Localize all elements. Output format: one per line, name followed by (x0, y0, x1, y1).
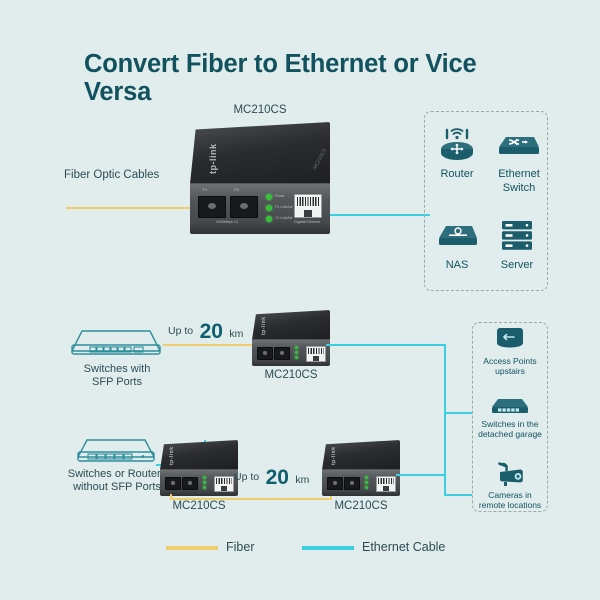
distance-value-bottom: 20 (266, 466, 289, 489)
led-fx-link (365, 481, 368, 484)
fiber-port-rx (182, 477, 198, 490)
ethernet-branch-cameras (444, 494, 472, 496)
fiber-cable-middle (163, 344, 259, 346)
camera-label-line2: remote locations (472, 500, 548, 511)
fiber-port-tx (327, 477, 343, 490)
device-front-panel (252, 340, 330, 366)
hero-device-model: MC210CS (185, 104, 335, 116)
ethernet-cable-bottom-right (396, 474, 446, 476)
fiber-port-rx (344, 477, 360, 490)
switch-icon (490, 396, 530, 416)
rj45-contacts (378, 478, 393, 483)
nas-icon (436, 222, 480, 250)
distance-label-middle: Up to 20 km (168, 320, 260, 344)
ethernet-port (376, 476, 396, 492)
fiber-cable-hero (66, 207, 202, 209)
ethernet-cable-middle (326, 344, 446, 346)
router-icon (434, 128, 480, 162)
led-fx-link (295, 351, 298, 354)
diagram-canvas: Convert Fiber to Ethernet or Vice Versa … (0, 0, 600, 600)
rj45-tab (383, 486, 389, 491)
fiber-port-rx (230, 196, 258, 218)
fiber-port-rx (274, 347, 290, 360)
ethernet-port (214, 476, 234, 492)
legend-label-fiber: Fiber (226, 540, 254, 554)
ethernet-port (306, 346, 326, 362)
media-converter-middle: tp-link (252, 310, 330, 366)
rj45-tab (313, 356, 319, 361)
tplink-logo: tp-link (208, 144, 218, 175)
server-icon (500, 220, 534, 252)
legend-swatch-ethernet (302, 546, 354, 550)
distance-label-bottom: Up to 20 km (234, 466, 326, 490)
switch-without-sfp-outline-icon (74, 435, 158, 465)
distance-unit-middle: km (229, 328, 243, 340)
fiber-cable-bottom (170, 498, 332, 500)
led-power (295, 346, 298, 349)
fiber-port-caption: 1000Mbps LX (194, 220, 260, 224)
fiber-tx-label: TX (202, 187, 207, 192)
distance-value-middle: 20 (200, 320, 223, 343)
switches-with-sfp-label-line2: SFP Ports (62, 375, 172, 389)
distance-unit-bottom: km (295, 474, 309, 486)
rj45-tab (304, 210, 313, 217)
bottom-left-device-model: MC210CS (154, 500, 244, 512)
rj45-contacts (216, 478, 231, 483)
device-front-panel: TX RX 1000Mbps LX Power FX Link/Act TX L… (190, 184, 330, 234)
distance-prefix-middle: Up to (168, 325, 193, 337)
nas-label: NAS (428, 259, 486, 273)
led-power-label: Power (275, 194, 285, 198)
router-label: Router (428, 168, 486, 182)
ethernet-switch-label: Ethernet Switch (490, 168, 548, 196)
media-converter-bottom-left: tp-link (160, 440, 238, 496)
distance-prefix-bottom: Up to (234, 471, 259, 483)
camera-icon (494, 462, 528, 488)
led-fx-link (266, 205, 272, 211)
fiber-port-tx (257, 347, 273, 360)
led-tx-link (365, 486, 368, 489)
garage-switch-label-line2: detached garage (474, 429, 546, 440)
legend-swatch-fiber (166, 546, 218, 550)
device-front-panel (160, 470, 238, 496)
access-point-label-line2: upstairs (476, 366, 544, 377)
page-title: Convert Fiber to Ethernet or Vice Versa (84, 50, 544, 106)
rj45-contacts (308, 348, 323, 353)
legend-label-ethernet: Ethernet Cable (362, 540, 445, 554)
led-fx-link (203, 481, 206, 484)
led-fx-link-label: FX Link/Act (275, 205, 292, 209)
bottom-right-device-model: MC210CS (316, 500, 406, 512)
media-converter-bottom-right: tp-link (322, 440, 400, 496)
tplink-logo: tp-link (261, 317, 267, 336)
tplink-logo: tp-link (169, 447, 175, 466)
fiber-optic-cables-label: Fiber Optic Cables (64, 168, 174, 184)
server-label: Server (488, 259, 546, 273)
led-power (203, 476, 206, 479)
ethernet-switch-icon (494, 131, 540, 161)
led-tx-link (203, 486, 206, 489)
rj45-tab (221, 486, 227, 491)
led-power (365, 476, 368, 479)
tplink-logo: tp-link (331, 447, 337, 466)
ethernet-port (294, 194, 322, 218)
fiber-rx-label: RX (234, 187, 240, 192)
media-converter-hero: tp-link MC210CS TX RX 1000Mbps LX Power … (190, 122, 330, 234)
led-power (266, 194, 272, 200)
fiber-port-tx (198, 196, 226, 218)
fiber-port-tx (165, 477, 181, 490)
ethernet-port-caption: Gigabit Ethernet (290, 220, 324, 224)
middle-device-model: MC210CS (246, 369, 336, 381)
access-point-icon (495, 328, 525, 354)
ethernet-branch-switches (444, 412, 472, 414)
device-front-panel (322, 470, 400, 496)
rj45-contacts (297, 197, 319, 205)
led-tx-link (266, 216, 272, 222)
led-tx-link (295, 356, 298, 359)
switch-with-sfp-outline-icon (68, 325, 164, 357)
